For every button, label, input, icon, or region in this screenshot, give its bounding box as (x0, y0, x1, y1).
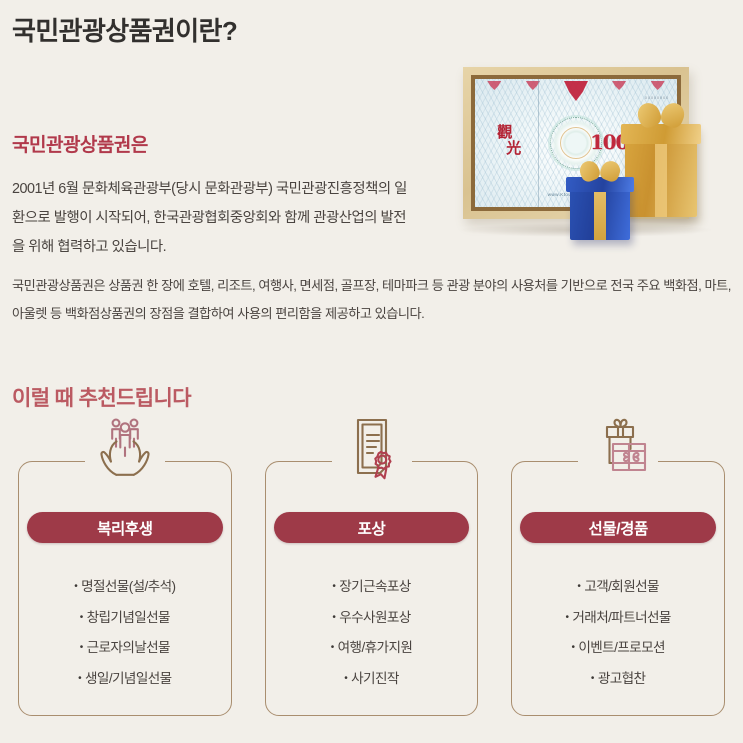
list-item: 거래처/파트너선물 (512, 603, 724, 634)
gold-gift-box (625, 125, 697, 217)
hands-holding-family-icon (91, 414, 159, 482)
award-certificate-icon (338, 414, 406, 482)
recommend-card-award[interactable]: 포상 장기근속포상 우수사원포상 여행/휴가지원 사기진작 (265, 461, 479, 716)
ornament-icon (649, 81, 666, 94)
list-item: 사기진작 (266, 664, 478, 695)
intro-paragraph-1: 2001년 6월 문화체육관광부(당시 문화관광부) 국민관광진흥정책의 일환으… (12, 175, 417, 262)
card-badge-award: 포상 (274, 512, 470, 543)
recommend-card-list: 복리후생 명절선물(설/추석) 창립기념일선물 근로자의날선물 생일/기념일선물 (18, 461, 725, 716)
certificate-cjk-text: 觀 光 (497, 125, 520, 157)
list-item: 근로자의날선물 (19, 633, 231, 664)
cjk-char-gwang: 光 (506, 141, 520, 157)
gift-bow-icon (638, 103, 684, 129)
ornament-icon (486, 81, 503, 94)
list-item: 명절선물(설/추석) (19, 572, 231, 603)
list-item: 우수사원포상 (266, 603, 478, 634)
card-item-list: 장기근속포상 우수사원포상 여행/휴가지원 사기진작 (266, 572, 478, 694)
list-item: 여행/휴가지원 (266, 633, 478, 664)
list-item: 창립기념일선물 (19, 603, 231, 634)
gift-bow-icon (580, 161, 620, 183)
card-badge-welfare: 복리후생 (27, 512, 223, 543)
recommend-card-welfare[interactable]: 복리후생 명절선물(설/추석) 창립기념일선물 근로자의날선물 생일/기념일선물 (18, 461, 232, 716)
recommend-section-heading: 이럴 때 추천드립니다 (12, 382, 191, 412)
certificate-serial: 00000000 (645, 95, 669, 100)
intro-paragraph-2: 국민관광상품권은 상품권 한 장에 호텔, 리조트, 여행사, 면세점, 골프장… (12, 272, 734, 328)
list-item: 광고협찬 (512, 664, 724, 695)
ornament-icon (611, 81, 628, 94)
ornament-center-icon (563, 81, 589, 105)
intro-subheading: 국민관광상품권은 (12, 130, 148, 157)
list-item: 고객/회원선물 (512, 572, 724, 603)
ornament-icon (524, 81, 541, 94)
card-item-list: 고객/회원선물 거래처/파트너선물 이벤트/프로모션 광고협찬 (512, 572, 724, 694)
recommend-card-gift[interactable]: 선물/경품 고객/회원선물 거래처/파트너선물 이벤트/프로모션 광고협찬 (511, 461, 725, 716)
list-item: 장기근속포상 (266, 572, 478, 603)
card-item-list: 명절선물(설/추석) 창립기념일선물 근로자의날선물 생일/기념일선물 (19, 572, 231, 694)
gift-boxes-icon (584, 414, 652, 482)
list-item: 이벤트/프로모션 (512, 633, 724, 664)
card-badge-gift: 선물/경품 (520, 512, 716, 543)
page-title: 국민관광상품권이란? (12, 11, 237, 48)
gift-certificate-illustration: 00000000 觀 光 100,000 십만원권 www.Ktourvb.co… (457, 62, 743, 247)
list-item: 생일/기념일선물 (19, 664, 231, 695)
blue-gift-box (570, 178, 630, 240)
